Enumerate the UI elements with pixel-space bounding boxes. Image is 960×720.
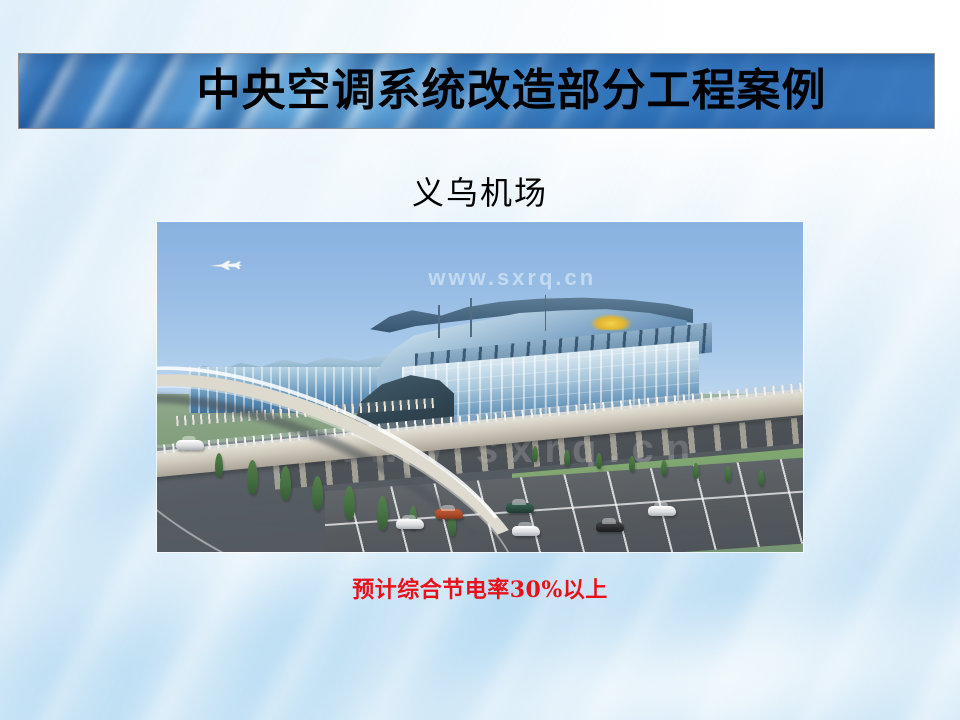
page-title: 中央空调系统改造部分工程案例 xyxy=(19,54,934,128)
slide-canvas: 中央空调系统改造部分工程案例 义乌机场 www.sxrq.cn www.sxrq… xyxy=(0,0,960,720)
savings-caption: 预计综合节电率30%以上 xyxy=(0,572,960,604)
subtitle-text: 义乌机场 xyxy=(0,168,960,214)
title-banner: 中央空调系统改造部分工程案例 xyxy=(18,53,935,129)
airport-photo: www.sxrq.cn www.sxrq.cn xyxy=(157,222,803,552)
photo-haze-overlay xyxy=(157,222,803,552)
